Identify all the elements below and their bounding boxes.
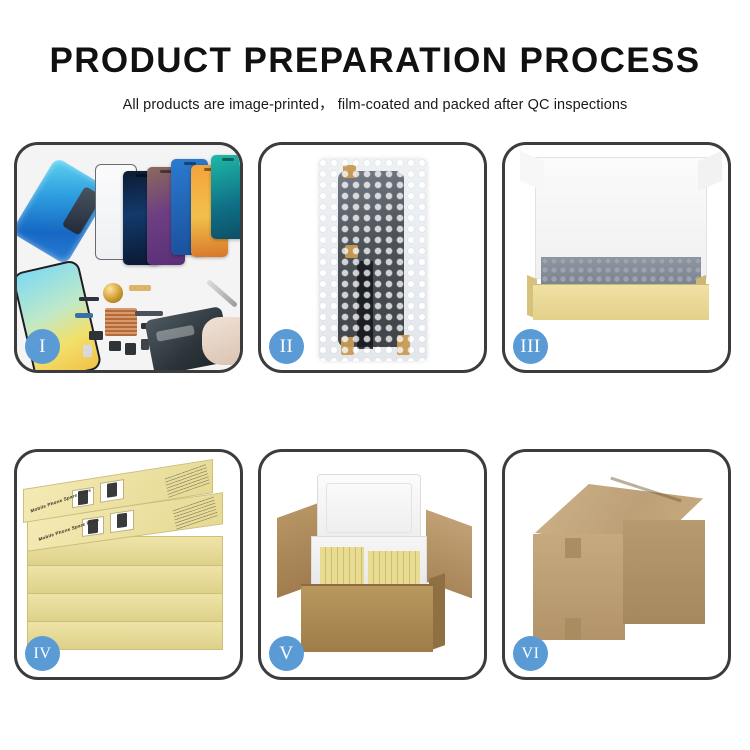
process-step-panel-3: III: [502, 142, 731, 373]
flex-cable-ribbon: [75, 313, 93, 318]
step-badge-6: VI: [513, 636, 548, 671]
page-title: PRODUCT PREPARATION PROCESS: [0, 43, 750, 80]
flex-cable-ribbon: [135, 311, 163, 316]
open-brown-carton: [301, 584, 433, 652]
white-foam-lid: [317, 474, 421, 542]
yellow-boxes-inside: [320, 547, 364, 587]
bubble-wrap-pouch: [319, 159, 427, 361]
fanned-phone-displays: [121, 153, 240, 265]
box-spec-lines: [172, 495, 217, 530]
yellow-boxes-inside: [368, 551, 420, 587]
bubble-texture-overlay: [319, 159, 427, 361]
box-spec-lines: [164, 462, 209, 497]
process-step-panel-6: VI: [502, 449, 731, 680]
corner-tape-patch: [565, 538, 581, 558]
step-badge-3: III: [513, 329, 548, 364]
process-step-panel-1: I: [14, 142, 243, 373]
product-window-graphic: [100, 479, 124, 503]
carton-side-face: [623, 520, 705, 624]
corner-tape-patch: [565, 618, 581, 640]
phone-display-5: [211, 155, 240, 239]
phone-thumb-icon: [117, 513, 127, 528]
step-badge-1: I: [25, 329, 60, 364]
product-window-graphic: [110, 510, 134, 533]
process-step-panel-5: V: [258, 449, 487, 680]
gray-bubble-foam-layer: [541, 257, 701, 287]
flex-cable-ribbon: [129, 285, 151, 291]
copper-grid-chip: [105, 308, 137, 336]
process-step-panel-4: Mobile Phone Spare Parts Mobile Phone Sp…: [14, 449, 243, 680]
stacked-box: [27, 564, 223, 594]
step-badge-2: II: [269, 329, 304, 364]
repair-tweezers: [206, 279, 238, 308]
notch-icon: [222, 158, 234, 161]
stacked-yellow-boxes: Mobile Phone Spare Parts Mobile Phone Sp…: [23, 470, 239, 662]
component-chip: [125, 343, 136, 355]
gold-coil-component: [103, 283, 123, 303]
step-badge-5: V: [269, 636, 304, 671]
component-chip: [79, 297, 99, 301]
stacked-box: [27, 592, 223, 622]
component-chip: [89, 331, 103, 340]
component-chip: [109, 341, 121, 351]
page-subtitle: All products are image-printed， film-coa…: [0, 93, 750, 114]
component-chip: [83, 345, 92, 357]
yellow-kraft-box-tray: [533, 284, 709, 320]
phone-thumb-icon: [107, 482, 117, 498]
process-step-grid: I II: [14, 142, 740, 680]
step-badge-4: IV: [25, 636, 60, 671]
header: PRODUCT PREPARATION PROCESS All products…: [0, 0, 750, 114]
product-preparation-infographic: PRODUCT PREPARATION PROCESS All products…: [0, 0, 750, 750]
process-step-panel-2: II: [258, 142, 487, 373]
technician-hand: [202, 317, 240, 365]
